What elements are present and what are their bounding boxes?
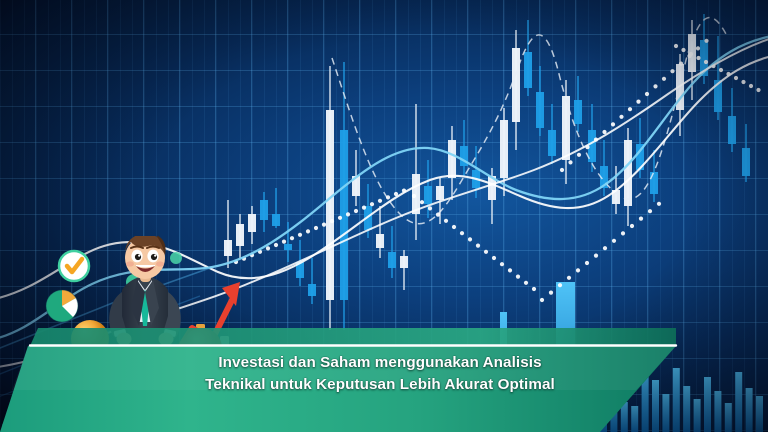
sar-dot — [653, 84, 657, 88]
sar-dot — [704, 60, 708, 64]
banner-title: Investasi dan Saham menggunakan Analisis… — [120, 352, 640, 396]
sar-dot — [420, 200, 424, 204]
sar-dot — [630, 224, 634, 228]
sar-dot — [508, 268, 512, 272]
sar-dot — [670, 69, 674, 73]
sar-dot — [619, 115, 623, 119]
sar-dot — [274, 243, 278, 247]
candle-body — [650, 172, 658, 194]
sar-dot — [346, 212, 350, 216]
sar-dot — [681, 48, 685, 52]
sar-dot — [444, 219, 448, 223]
candle-body — [326, 110, 334, 300]
banner-canvas: Investasi dan Saham menggunakan Analisis… — [0, 0, 768, 432]
sar-dot — [436, 213, 440, 217]
sar-dot — [648, 209, 652, 213]
candle-body — [388, 252, 396, 268]
candle-body — [248, 214, 256, 232]
sar-dot — [378, 199, 382, 203]
sar-dot — [612, 239, 616, 243]
sar-dot — [298, 233, 302, 237]
sar-dot — [362, 206, 366, 210]
sar-dot — [386, 195, 390, 199]
sar-dot — [741, 80, 745, 84]
sar-dot — [476, 244, 480, 248]
mint-dot-icon — [170, 252, 182, 264]
sar-dot — [468, 237, 472, 241]
sar-dot — [585, 261, 589, 265]
banner-title-line2: Teknikal untuk Keputusan Lebih Akurat Op… — [120, 374, 640, 396]
candle-body — [624, 140, 632, 206]
candlestick-series — [224, 14, 750, 330]
candle-body — [400, 256, 408, 268]
candle-body — [536, 92, 544, 128]
sar-dot — [719, 68, 723, 72]
sar-dot — [696, 56, 700, 60]
sar-dot — [567, 276, 571, 280]
candle-body — [500, 120, 508, 178]
sar-dot — [266, 246, 270, 250]
sar-dot — [532, 287, 536, 291]
sar-dot — [749, 84, 753, 88]
sar-dot — [568, 160, 572, 164]
sar-dot — [662, 77, 666, 81]
sar-dot — [639, 217, 643, 221]
banner-title-line1: Investasi dan Saham menggunakan Analisis — [120, 352, 640, 374]
sar-dot — [602, 130, 606, 134]
sar-dot — [322, 223, 326, 227]
sar-dot — [594, 254, 598, 258]
candle-body — [728, 116, 736, 144]
sar-dot — [558, 283, 562, 287]
candle-body — [284, 244, 292, 250]
sar-dot — [734, 76, 738, 80]
candle-body — [424, 186, 432, 204]
sar-dot — [306, 229, 310, 233]
sar-dot — [645, 92, 649, 96]
sar-dot — [689, 52, 693, 56]
sar-dot — [679, 62, 683, 66]
sar-dot — [560, 168, 564, 172]
candle-body — [742, 148, 750, 176]
sar-dot — [657, 202, 661, 206]
title-banner: Investasi dan Saham menggunakan Analisis… — [0, 316, 768, 432]
sar-dot — [354, 209, 358, 213]
candle-body — [308, 284, 316, 296]
candle-body — [260, 200, 268, 220]
sar-dot — [603, 246, 607, 250]
sar-dot — [314, 226, 318, 230]
sar-dot — [611, 122, 615, 126]
sar-dot — [636, 100, 640, 104]
candle-body — [574, 100, 582, 124]
sar-dot — [524, 281, 528, 285]
sar-dot — [696, 46, 700, 50]
sar-dot — [621, 231, 625, 235]
candle-body — [436, 186, 444, 200]
sar-dot — [756, 88, 760, 92]
candle-body — [562, 96, 570, 160]
sar-dot — [549, 291, 553, 295]
checkmark-badge-icon — [59, 251, 89, 281]
sar-dot — [516, 275, 520, 279]
sar-dot — [500, 262, 504, 266]
sar-dot — [452, 225, 456, 229]
sar-dot — [428, 206, 432, 210]
candle-body — [524, 52, 532, 88]
sar-dot — [282, 240, 286, 244]
sar-dot — [484, 250, 488, 254]
sar-dot — [370, 202, 374, 206]
dashed-trend-line — [332, 18, 726, 224]
sar-dot — [540, 298, 544, 302]
sar-dot — [628, 107, 632, 111]
sar-dot — [338, 216, 342, 220]
sar-dot — [330, 219, 334, 223]
sar-dot — [704, 39, 708, 43]
candle-body — [272, 214, 280, 226]
sar-dot — [460, 231, 464, 235]
sar-dot — [674, 44, 678, 48]
sar-dot — [577, 153, 581, 157]
candle-body — [376, 234, 384, 248]
candle-body — [512, 48, 520, 122]
candle-body — [548, 130, 556, 156]
sar-dot — [576, 268, 580, 272]
sar-dot — [290, 236, 294, 240]
sar-dot — [492, 256, 496, 260]
candle-body — [412, 174, 420, 214]
sar-dot — [412, 194, 416, 198]
candle-body — [448, 140, 456, 178]
